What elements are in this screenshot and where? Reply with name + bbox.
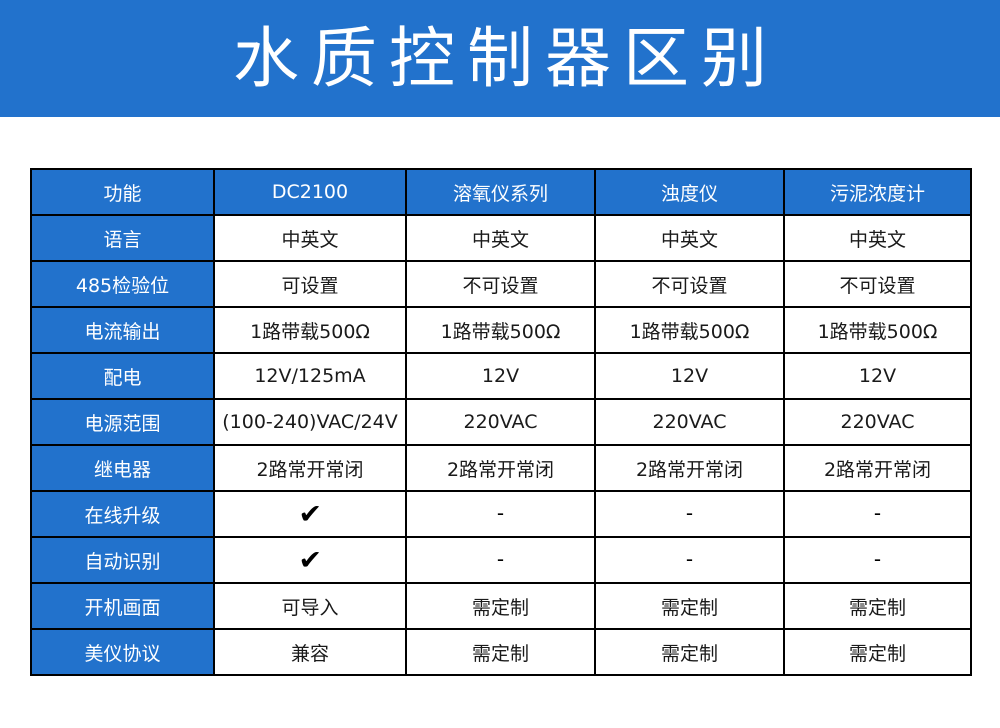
cell-auto-recognition-do-meter-series: -: [406, 537, 595, 583]
column-header-turbidity-meter: 浊度仪: [595, 169, 784, 215]
cell-relay-sludge-concentration-meter: 2路常开常闭: [784, 445, 971, 491]
cell-auto-recognition-sludge-concentration-meter: -: [784, 537, 971, 583]
row-label-auto-recognition: 自动识别: [31, 537, 214, 583]
table-row: 自动识别 ✔ - - -: [31, 537, 971, 583]
cell-meiyi-protocol-sludge-concentration-meter: 需定制: [784, 629, 971, 675]
column-header-sludge-concentration-meter: 污泥浓度计: [784, 169, 971, 215]
cell-relay-turbidity-meter: 2路常开常闭: [595, 445, 784, 491]
column-header-dc2100: DC2100: [214, 169, 406, 215]
dash-icon: -: [686, 549, 693, 569]
row-label-online-upgrade: 在线升级: [31, 491, 214, 537]
page-title: 水质控制器区别: [221, 26, 779, 92]
table-body: 语言 中英文 中英文 中英文 中英文 485检验位 可设置 不可设置 不可设置 …: [31, 215, 971, 675]
row-label-485-parity-bit: 485检验位: [31, 261, 214, 307]
dash-icon: -: [874, 549, 881, 569]
row-label-power-distribution: 配电: [31, 353, 214, 399]
spec-table-container: 功能 DC2100 溶氧仪系列 浊度仪 污泥浓度计 语言 中英文 中英文 中英文…: [0, 117, 1000, 676]
cell-power-supply-range-turbidity-meter: 220VAC: [595, 399, 784, 445]
cell-language-turbidity-meter: 中英文: [595, 215, 784, 261]
cell-meiyi-protocol-dc2100: 兼容: [214, 629, 406, 675]
cell-485-parity-do-meter-series: 不可设置: [406, 261, 595, 307]
table-row: 开机画面 可导入 需定制 需定制 需定制: [31, 583, 971, 629]
table-row: 美仪协议 兼容 需定制 需定制 需定制: [31, 629, 971, 675]
cell-relay-do-meter-series: 2路常开常闭: [406, 445, 595, 491]
cell-power-distribution-turbidity-meter: 12V: [595, 353, 784, 399]
cell-current-output-sludge-concentration-meter: 1路带载500Ω: [784, 307, 971, 353]
cell-language-sludge-concentration-meter: 中英文: [784, 215, 971, 261]
cell-current-output-dc2100: 1路带载500Ω: [214, 307, 406, 353]
cell-power-supply-range-sludge-concentration-meter: 220VAC: [784, 399, 971, 445]
cell-language-dc2100: 中英文: [214, 215, 406, 261]
cell-auto-recognition-dc2100: ✔: [214, 537, 406, 583]
row-label-boot-screen: 开机画面: [31, 583, 214, 629]
cell-boot-screen-do-meter-series: 需定制: [406, 583, 595, 629]
table-row: 在线升级 ✔ - - -: [31, 491, 971, 537]
table-row: 485检验位 可设置 不可设置 不可设置 不可设置: [31, 261, 971, 307]
dash-icon: -: [497, 549, 504, 569]
table-header: 功能 DC2100 溶氧仪系列 浊度仪 污泥浓度计: [31, 169, 971, 215]
table-row: 电流输出 1路带载500Ω 1路带载500Ω 1路带载500Ω 1路带载500Ω: [31, 307, 971, 353]
cell-current-output-do-meter-series: 1路带载500Ω: [406, 307, 595, 353]
cell-online-upgrade-do-meter-series: -: [406, 491, 595, 537]
column-header-feature: 功能: [31, 169, 214, 215]
table-header-row: 功能 DC2100 溶氧仪系列 浊度仪 污泥浓度计: [31, 169, 971, 215]
cell-485-parity-sludge-concentration-meter: 不可设置: [784, 261, 971, 307]
check-icon: ✔: [298, 501, 322, 528]
cell-485-parity-dc2100: 可设置: [214, 261, 406, 307]
table-row: 继电器 2路常开常闭 2路常开常闭 2路常开常闭 2路常开常闭: [31, 445, 971, 491]
row-label-meiyi-protocol: 美仪协议: [31, 629, 214, 675]
row-label-relay: 继电器: [31, 445, 214, 491]
cell-boot-screen-turbidity-meter: 需定制: [595, 583, 784, 629]
cell-power-distribution-sludge-concentration-meter: 12V: [784, 353, 971, 399]
cell-power-distribution-do-meter-series: 12V: [406, 353, 595, 399]
cell-current-output-turbidity-meter: 1路带载500Ω: [595, 307, 784, 353]
dash-icon: -: [874, 503, 881, 523]
row-label-current-output: 电流输出: [31, 307, 214, 353]
page-banner: 水质控制器区别: [0, 0, 1000, 117]
cell-boot-screen-sludge-concentration-meter: 需定制: [784, 583, 971, 629]
row-label-language: 语言: [31, 215, 214, 261]
cell-meiyi-protocol-do-meter-series: 需定制: [406, 629, 595, 675]
cell-power-supply-range-dc2100: (100-240)VAC/24V: [214, 399, 406, 445]
cell-power-distribution-dc2100: 12V/125mA: [214, 353, 406, 399]
cell-485-parity-turbidity-meter: 不可设置: [595, 261, 784, 307]
row-label-power-supply-range: 电源范围: [31, 399, 214, 445]
water-quality-controller-comparison-table: 功能 DC2100 溶氧仪系列 浊度仪 污泥浓度计 语言 中英文 中英文 中英文…: [30, 168, 972, 676]
cell-power-supply-range-do-meter-series: 220VAC: [406, 399, 595, 445]
cell-online-upgrade-turbidity-meter: -: [595, 491, 784, 537]
column-header-do-meter-series: 溶氧仪系列: [406, 169, 595, 215]
table-row: 电源范围 (100-240)VAC/24V 220VAC 220VAC 220V…: [31, 399, 971, 445]
cell-auto-recognition-turbidity-meter: -: [595, 537, 784, 583]
dash-icon: -: [497, 503, 504, 523]
cell-boot-screen-dc2100: 可导入: [214, 583, 406, 629]
cell-language-do-meter-series: 中英文: [406, 215, 595, 261]
check-icon: ✔: [298, 547, 322, 574]
cell-online-upgrade-dc2100: ✔: [214, 491, 406, 537]
cell-meiyi-protocol-turbidity-meter: 需定制: [595, 629, 784, 675]
cell-online-upgrade-sludge-concentration-meter: -: [784, 491, 971, 537]
cell-relay-dc2100: 2路常开常闭: [214, 445, 406, 491]
table-row: 配电 12V/125mA 12V 12V 12V: [31, 353, 971, 399]
dash-icon: -: [686, 503, 693, 523]
table-row: 语言 中英文 中英文 中英文 中英文: [31, 215, 971, 261]
